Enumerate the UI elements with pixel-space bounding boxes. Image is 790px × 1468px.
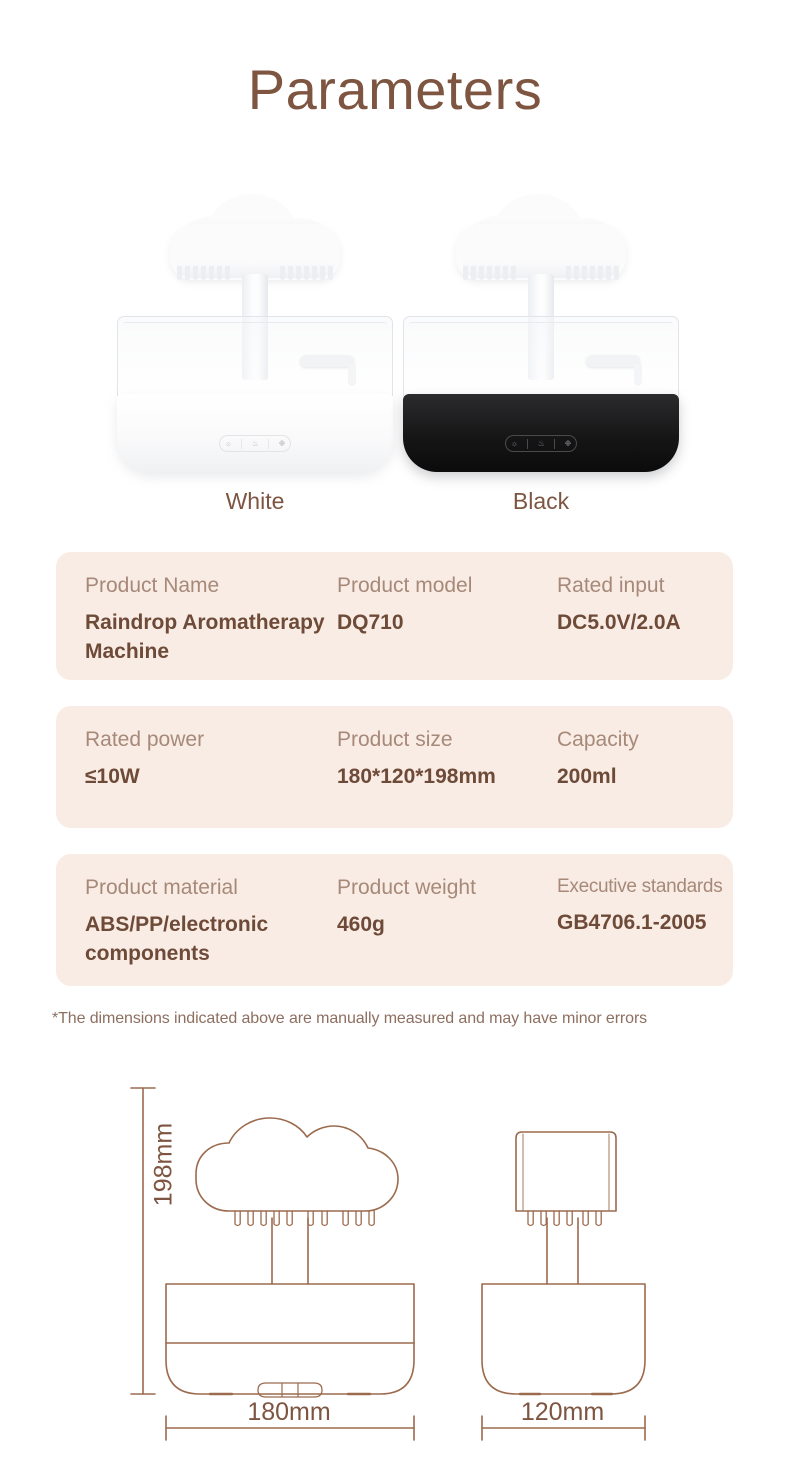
spec-cell-product-name: Product Name Raindrop Aromatherapy Machi…	[85, 572, 337, 667]
spec-cell-product-material: Product material ABS/PP/electronic compo…	[85, 874, 337, 969]
spec-label: Rated input	[557, 572, 727, 600]
spec-value: 200ml	[557, 763, 727, 792]
spec-value: GB4706.1-2005	[557, 909, 727, 938]
spec-row-2: Rated power ≤10W Product size 180*120*19…	[56, 706, 733, 828]
light-icon[interactable]: ❉	[279, 440, 286, 448]
product-base-white: ☼ ♨ ❉	[117, 394, 393, 472]
spec-label: Product model	[337, 572, 557, 600]
product-variant-black[interactable]: ☼ ♨ ❉ Black	[391, 186, 691, 486]
light-icon[interactable]: ❉	[565, 440, 572, 448]
spec-cell-executive-standards: Executive standards GB4706.1-2005	[557, 874, 727, 938]
spec-label: Product material	[85, 874, 337, 902]
spec-row-1: Product Name Raindrop Aromatherapy Machi…	[56, 552, 733, 680]
product-showcase: ☼ ♨ ❉ White	[0, 186, 790, 531]
spec-cell-product-model: Product model DQ710	[337, 572, 557, 638]
spec-cell-rated-power: Rated power ≤10W	[85, 726, 337, 792]
power-icon[interactable]: ☼	[225, 440, 232, 448]
spec-label: Product size	[337, 726, 557, 754]
spec-cell-capacity: Capacity 200ml	[557, 726, 727, 792]
dimension-diagram-svg	[0, 1060, 790, 1460]
spec-value: DQ710	[337, 609, 557, 638]
page-title: Parameters	[0, 62, 790, 118]
spec-value: Raindrop Aromatherapy Machine	[85, 609, 337, 667]
spec-label: Product weight	[337, 874, 557, 902]
spec-label: Executive standards	[557, 874, 727, 900]
spec-cell-product-size: Product size 180*120*198mm	[337, 726, 557, 792]
control-panel[interactable]: ☼ ♨ ❉	[219, 435, 291, 452]
dimension-label-height: 198mm	[150, 1090, 179, 1240]
product-base-black: ☼ ♨ ❉	[403, 394, 679, 472]
mist-icon[interactable]: ♨	[252, 440, 259, 448]
variant-label-white: White	[105, 488, 405, 515]
dimension-label-front-width: 180mm	[194, 1398, 384, 1427]
spec-cell-rated-input: Rated input DC5.0V/2.0A	[557, 572, 727, 638]
spec-value: 180*120*198mm	[337, 763, 557, 792]
spec-label: Capacity	[557, 726, 727, 754]
technical-drawings	[0, 1060, 790, 1460]
spec-value: ABS/PP/electronic components	[85, 911, 337, 969]
spec-value: 460g	[337, 911, 557, 940]
spec-value: DC5.0V/2.0A	[557, 609, 727, 638]
spec-row-3: Product material ABS/PP/electronic compo…	[56, 854, 733, 986]
spec-cell-product-weight: Product weight 460g	[337, 874, 557, 940]
variant-label-black: Black	[391, 488, 691, 515]
spec-value: ≤10W	[85, 763, 337, 792]
water-tank	[403, 316, 679, 396]
spec-label: Product Name	[85, 572, 337, 600]
measurement-disclaimer: *The dimensions indicated above are manu…	[52, 1010, 752, 1028]
dimension-label-side-width: 120mm	[470, 1398, 655, 1427]
spec-label: Rated power	[85, 726, 337, 754]
water-tank	[117, 316, 393, 396]
mist-icon[interactable]: ♨	[538, 440, 545, 448]
control-panel[interactable]: ☼ ♨ ❉	[505, 435, 577, 452]
product-variant-white[interactable]: ☼ ♨ ❉ White	[105, 186, 405, 486]
power-icon[interactable]: ☼	[511, 440, 518, 448]
